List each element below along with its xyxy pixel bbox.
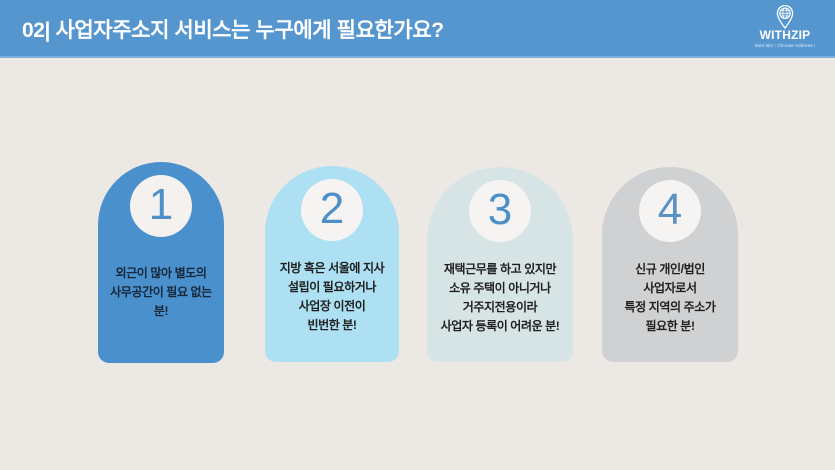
info-card-2[interactable]: 2 지방 혹은 서울에 지사 설립이 필요하거나 사업장 이전이 빈번한 분! (265, 166, 399, 362)
card-description: 지방 혹은 서울에 지사 설립이 필요하거나 사업장 이전이 빈번한 분! (276, 259, 389, 335)
card-description: 신규 개인/법인 사업자로서 특정 지역의 주소가 필요한 분! (621, 260, 720, 336)
number-badge: 1 (130, 175, 192, 237)
card-number: 2 (320, 187, 344, 231)
card-number: 4 (658, 188, 682, 232)
card-group: 1 외근이 많아 별도의 사무공간이 필요 없는 분! 2 지방 혹은 서울에 … (0, 0, 835, 470)
number-badge: 4 (639, 180, 701, 242)
card-number: 3 (488, 188, 512, 232)
info-card-1[interactable]: 1 외근이 많아 별도의 사무공간이 필요 없는 분! (98, 162, 224, 363)
card-description: 외근이 많아 별도의 사무공간이 필요 없는 분! (98, 264, 224, 321)
number-badge: 2 (301, 179, 363, 241)
card-description: 재택근무를 하고 있지만 소유 주택이 아니거나 거주지전용이라 사업자 등록이… (437, 260, 564, 336)
card-number: 1 (149, 183, 173, 227)
slide: 02| 사업자주소지 서비스는 누구에게 필요한가요? WITHZIP Star… (0, 0, 835, 470)
info-card-3[interactable]: 3 재택근무를 하고 있지만 소유 주택이 아니거나 거주지전용이라 사업자 등… (427, 167, 573, 362)
number-badge: 3 (469, 180, 531, 242)
info-card-4[interactable]: 4 신규 개인/법인 사업자로서 특정 지역의 주소가 필요한 분! (602, 167, 738, 362)
